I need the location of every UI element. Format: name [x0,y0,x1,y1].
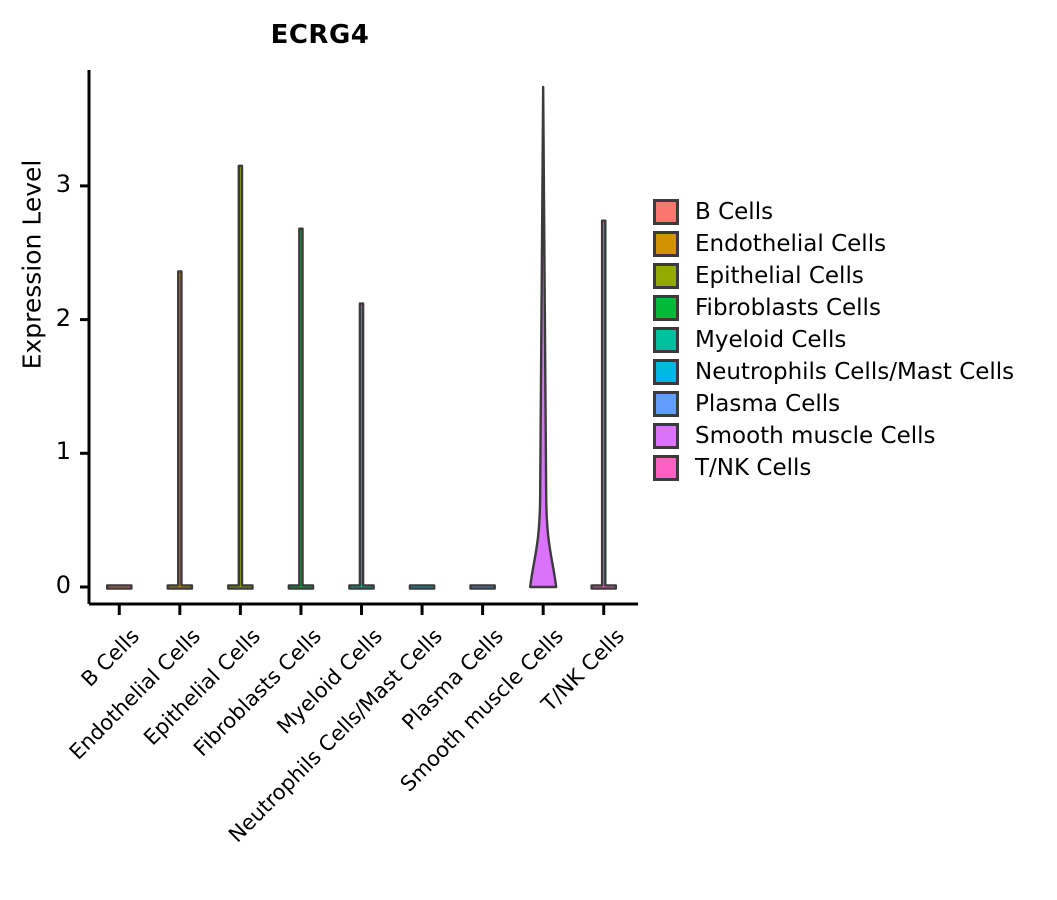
violin-neutrophils-cells-mast-cells [410,585,434,588]
legend-item[interactable]: Endothelial Cells [653,228,1014,260]
legend-item-label: Smooth muscle Cells [695,425,936,448]
legend-item-label: T/NK Cells [695,457,811,480]
y-tick-label: 3 [31,170,71,198]
y-tick-label: 1 [31,437,71,465]
violin-epithelial-cells [228,166,252,589]
violin-fibroblasts-cells [289,229,313,589]
legend-item[interactable]: B Cells [653,196,1014,228]
legend-item[interactable]: Neutrophils Cells/Mast Cells [653,356,1014,388]
violin-myeloid-cells [349,304,373,589]
legend-swatch-icon [653,359,679,385]
legend-item-label: B Cells [695,201,773,224]
legend-item-label: Epithelial Cells [695,265,864,288]
legend-swatch-icon [653,199,679,225]
legend-item-label: Myeloid Cells [695,329,846,352]
legend-item-label: Neutrophils Cells/Mast Cells [695,361,1014,384]
legend-item[interactable]: Plasma Cells [653,388,1014,420]
y-tick-label: 0 [31,571,71,599]
legend-item[interactable]: Smooth muscle Cells [653,420,1014,452]
violin-plot-figure: ECRG4 Expression Level 0123 B CellsEndot… [0,0,1057,900]
legend-item-label: Plasma Cells [695,393,840,416]
legend-item-label: Fibroblasts Cells [695,297,881,320]
legend-swatch-icon [653,231,679,257]
violin-b-cells [107,585,131,588]
legend-item[interactable]: Epithelial Cells [653,260,1014,292]
legend-swatch-icon [653,327,679,353]
legend-swatch-icon [653,423,679,449]
violin-plasma-cells [471,585,495,588]
y-tick-label: 2 [31,304,71,332]
violin-endothelial-cells [168,271,192,588]
legend-item[interactable]: Myeloid Cells [653,324,1014,356]
legend-item-label: Endothelial Cells [695,233,886,256]
legend-item[interactable]: Fibroblasts Cells [653,292,1014,324]
violin-t-nk-cells [592,221,616,589]
legend-swatch-icon [653,391,679,417]
legend-swatch-icon [653,295,679,321]
legend-swatch-icon [653,263,679,289]
legend-swatch-icon [653,455,679,481]
legend-item[interactable]: T/NK Cells [653,452,1014,484]
legend: B CellsEndothelial CellsEpithelial Cells… [653,196,1014,484]
violin-smooth-muscle-cells [530,87,556,587]
